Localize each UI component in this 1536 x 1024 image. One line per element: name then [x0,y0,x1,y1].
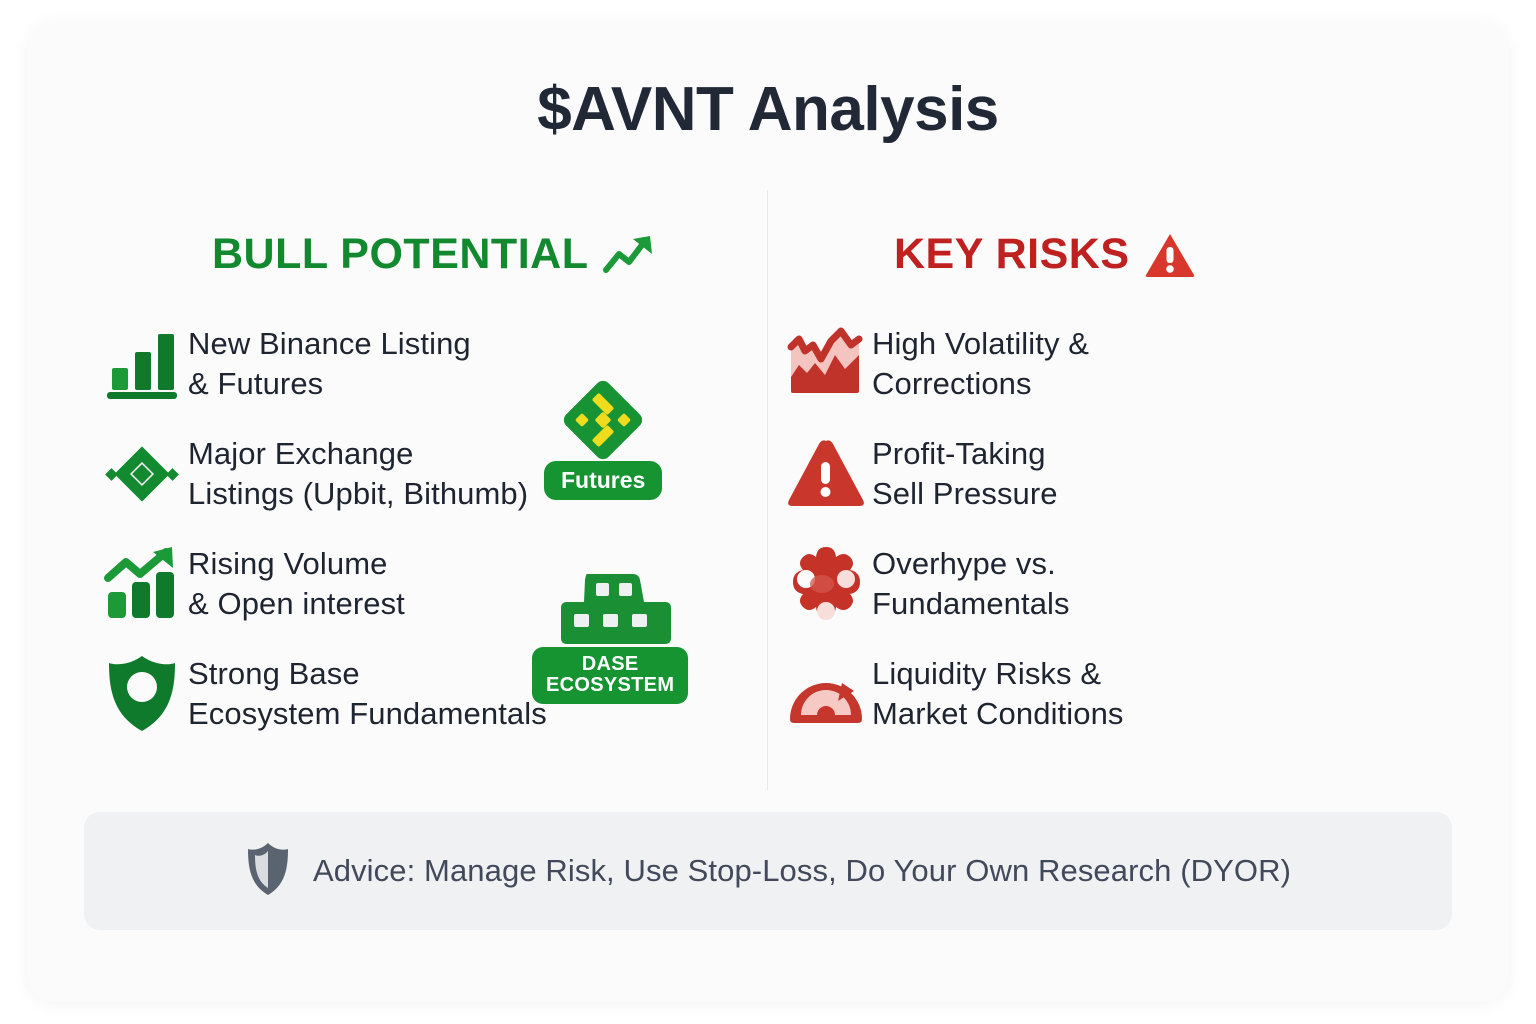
bull-potential-panel: BULL POTENTIAL [84,190,768,790]
gear-icon [780,538,872,630]
list-item-line1: Liquidity Risks & [872,654,1124,694]
bar-chart-icon [96,318,188,410]
list-item-line2: Sell Pressure [872,474,1058,514]
futures-badge: Futures [544,461,662,500]
list-item: Liquidity Risks & Market Conditions [768,648,1452,758]
bull-potential-heading: BULL POTENTIAL [212,230,654,279]
list-item-text: Overhype vs. Fundamentals [872,538,1070,624]
page-title: $AVNT Analysis [28,74,1508,145]
advice-text: Advice: Manage Risk, Use Stop-Loss, Do Y… [313,853,1291,889]
binance-futures-decoration: Futures [544,370,662,500]
list-item: Profit-Taking Sell Pressure [768,428,1452,538]
base-ecosystem-badge-line1: DASE [582,653,639,675]
infographic-page: $AVNT Analysis BULL POTENTIAL [0,0,1536,1024]
list-item-line1: Strong Base [188,654,547,694]
shield-icon [96,648,188,740]
rising-chart-arrow-icon [96,538,188,630]
list-item: New Binance Listing & Futures [84,318,768,428]
list-item-text: Liquidity Risks & Market Conditions [872,648,1124,734]
advice-footer: Advice: Manage Risk, Use Stop-Loss, Do Y… [84,812,1452,930]
list-item-line1: Rising Volume [188,544,405,584]
list-item: Overhype vs. Fundamentals [768,538,1452,648]
list-item-line2: Corrections [872,364,1089,404]
key-risks-items: High Volatility & Corrections [768,318,1452,758]
base-ecosystem-badge-line2: ECOSYSTEM [546,674,674,696]
list-item-text: Major Exchange Listings (Upbit, Bithumb) [188,428,528,514]
list-item-line1: Major Exchange [188,434,528,474]
list-item-line2: Ecosystem Fundamentals [188,694,547,734]
key-risks-heading: KEY RISKS [894,230,1196,279]
list-item-line2: Market Conditions [872,694,1124,734]
list-item-line2: & Futures [188,364,471,404]
binance-diamond-icon [96,428,188,520]
gauge-icon [780,648,872,740]
list-item-line1: High Volatility & [872,324,1089,364]
key-risks-panel: KEY RISKS [768,190,1452,790]
list-item-text: New Binance Listing & Futures [188,318,471,404]
list-item: High Volatility & Corrections [768,318,1452,428]
warning-triangle-icon [780,428,872,520]
warning-triangle-icon [1144,231,1196,279]
shield-icon [245,841,291,902]
list-item-line2: & Open interest [188,584,405,624]
list-item-text: Strong Base Ecosystem Fundamentals [188,648,547,734]
list-item-line2: Listings (Upbit, Bithumb) [188,474,528,514]
key-risks-heading-label: KEY RISKS [894,230,1130,279]
list-item-text: Profit-Taking Sell Pressure [872,428,1058,514]
binance-logo-icon [553,370,653,475]
list-item-text: Rising Volume & Open interest [188,538,405,624]
list-item: Major Exchange Listings (Upbit, Bithumb) [84,428,768,538]
volatile-area-chart-icon [780,318,872,410]
base-ecosystem-badge: DASE ECOSYSTEM [532,647,688,704]
base-ecosystem-decoration: DASE ECOSYSTEM [532,570,688,704]
chart-increasing-icon [602,232,654,278]
list-item-line1: Profit-Taking [872,434,1058,474]
analysis-card: $AVNT Analysis BULL POTENTIAL [28,22,1508,1002]
bull-potential-heading-label: BULL POTENTIAL [212,230,588,279]
panels-container: BULL POTENTIAL [84,190,1452,790]
list-item-text: High Volatility & Corrections [872,318,1089,404]
list-item-line1: Overhype vs. [872,544,1070,584]
list-item-line2: Fundamentals [872,584,1070,624]
list-item-line1: New Binance Listing [188,324,471,364]
